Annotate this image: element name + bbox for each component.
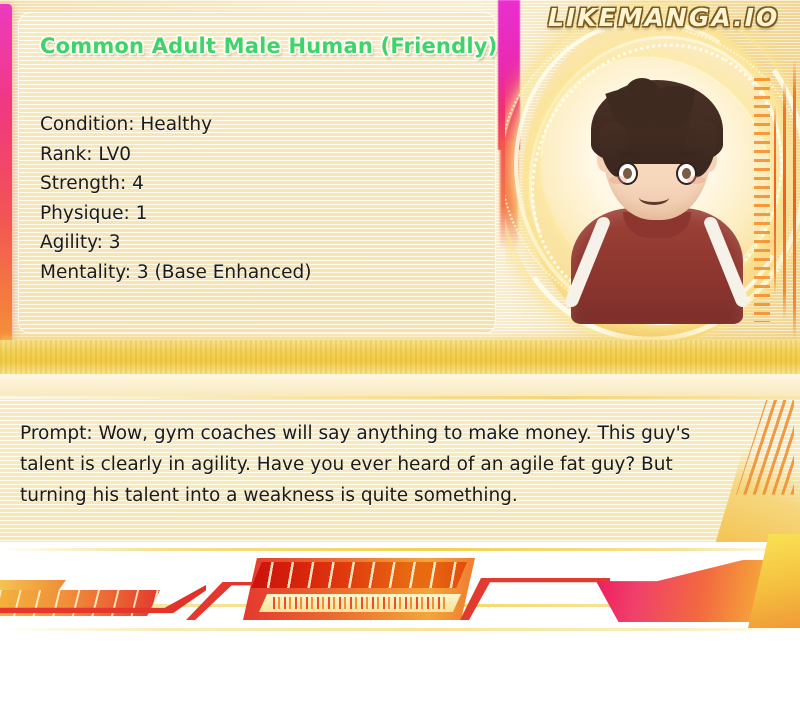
prompt-corner-ridges xyxy=(736,400,794,510)
top-hud-region: Common Adult Male Human (Friendly) Condi… xyxy=(0,0,800,396)
blush-left xyxy=(609,176,627,184)
stat-row-rank: Rank: LV0 xyxy=(40,140,470,170)
prompt-panel-top-edge xyxy=(0,396,800,399)
stat-row-mentality: Mentality: 3 (Base Enhanced) xyxy=(40,258,470,288)
hud-center-segmented-bar xyxy=(243,558,475,620)
prompt-corner-decor xyxy=(702,396,800,542)
status-card-title: Common Adult Male Human (Friendly) xyxy=(40,34,497,58)
mouth-smile xyxy=(639,190,669,205)
hud-center-block-cuts xyxy=(251,562,467,588)
prompt-text: Prompt: Wow, gym coaches will say anythi… xyxy=(20,418,710,511)
portrait-zone xyxy=(505,0,800,396)
tech-line-2 xyxy=(783,80,786,321)
stat-row-physique: Physique: 1 xyxy=(40,199,470,229)
tech-tick-marks xyxy=(754,78,770,322)
hud-left-upper-segment xyxy=(0,580,66,591)
prompt-panel: Prompt: Wow, gym coaches will say anythi… xyxy=(0,396,800,542)
status-card: Common Adult Male Human (Friendly) Condi… xyxy=(18,12,496,334)
stat-row-agility: Agility: 3 xyxy=(40,228,470,258)
tech-line-3 xyxy=(774,105,776,295)
stat-row-condition: Condition: Healthy xyxy=(40,110,470,140)
blush-right xyxy=(687,176,705,184)
character-portrait xyxy=(567,72,747,324)
left-rim-accent xyxy=(0,4,12,376)
tech-line-1 xyxy=(793,60,796,340)
stat-row-strength: Strength: 4 xyxy=(40,169,470,199)
stat-list: Condition: Healthy Rank: LV0 Strength: 4… xyxy=(40,110,470,287)
panel-page: Common Adult Male Human (Friendly) Condi… xyxy=(0,0,800,716)
hud-thin-line-top xyxy=(0,548,800,551)
soft-band-below-gold xyxy=(0,374,800,396)
hud-thin-line-bottom xyxy=(0,628,800,631)
gold-separator-band xyxy=(0,340,800,374)
site-watermark: LIKEMANGA.IO xyxy=(548,3,779,32)
hair-bang-center xyxy=(625,78,659,108)
hud-center-star-marks xyxy=(273,597,449,609)
gold-band-texture xyxy=(0,340,800,374)
